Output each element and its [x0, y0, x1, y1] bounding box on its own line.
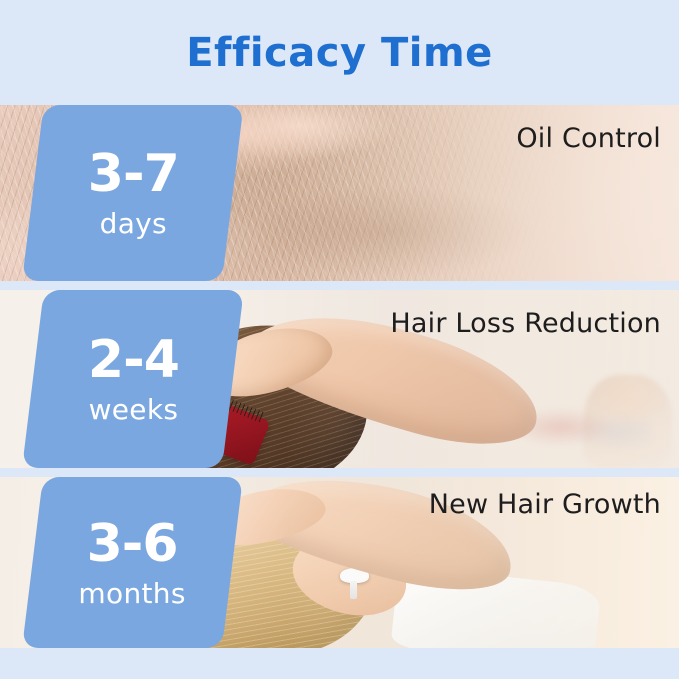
- duration-unit: days: [99, 210, 166, 238]
- duration-badge: 2-4 weeks: [22, 290, 244, 468]
- page-title-container: Efficacy Time: [0, 0, 679, 105]
- duration-badge: 3-7 days: [22, 105, 244, 281]
- efficacy-row: 2-4 weeks Hair Loss Reduction: [0, 290, 679, 468]
- benefit-label: Oil Control: [516, 123, 661, 154]
- benefit-label: New Hair Growth: [429, 489, 661, 520]
- duration-range: 3-7: [87, 148, 178, 200]
- page-title: Efficacy Time: [186, 30, 493, 76]
- duration-range: 3-6: [87, 518, 178, 570]
- benefit-label: Hair Loss Reduction: [390, 308, 661, 339]
- duration-unit: months: [79, 580, 186, 608]
- duration-badge-inner: 3-7 days: [87, 148, 178, 238]
- efficacy-row: 3-6 months New Hair Growth: [0, 477, 679, 648]
- duration-badge-inner: 2-4 weeks: [87, 334, 178, 424]
- duration-range: 2-4: [87, 334, 178, 386]
- duration-badge: 3-6 months: [22, 477, 243, 648]
- efficacy-row: 3-7 days Oil Control: [0, 105, 679, 281]
- duration-unit: weeks: [88, 396, 178, 424]
- duration-badge-inner: 3-6 months: [79, 518, 186, 608]
- efficacy-time-infographic: Efficacy Time 3-7 days Oil Control 2-4: [0, 0, 679, 679]
